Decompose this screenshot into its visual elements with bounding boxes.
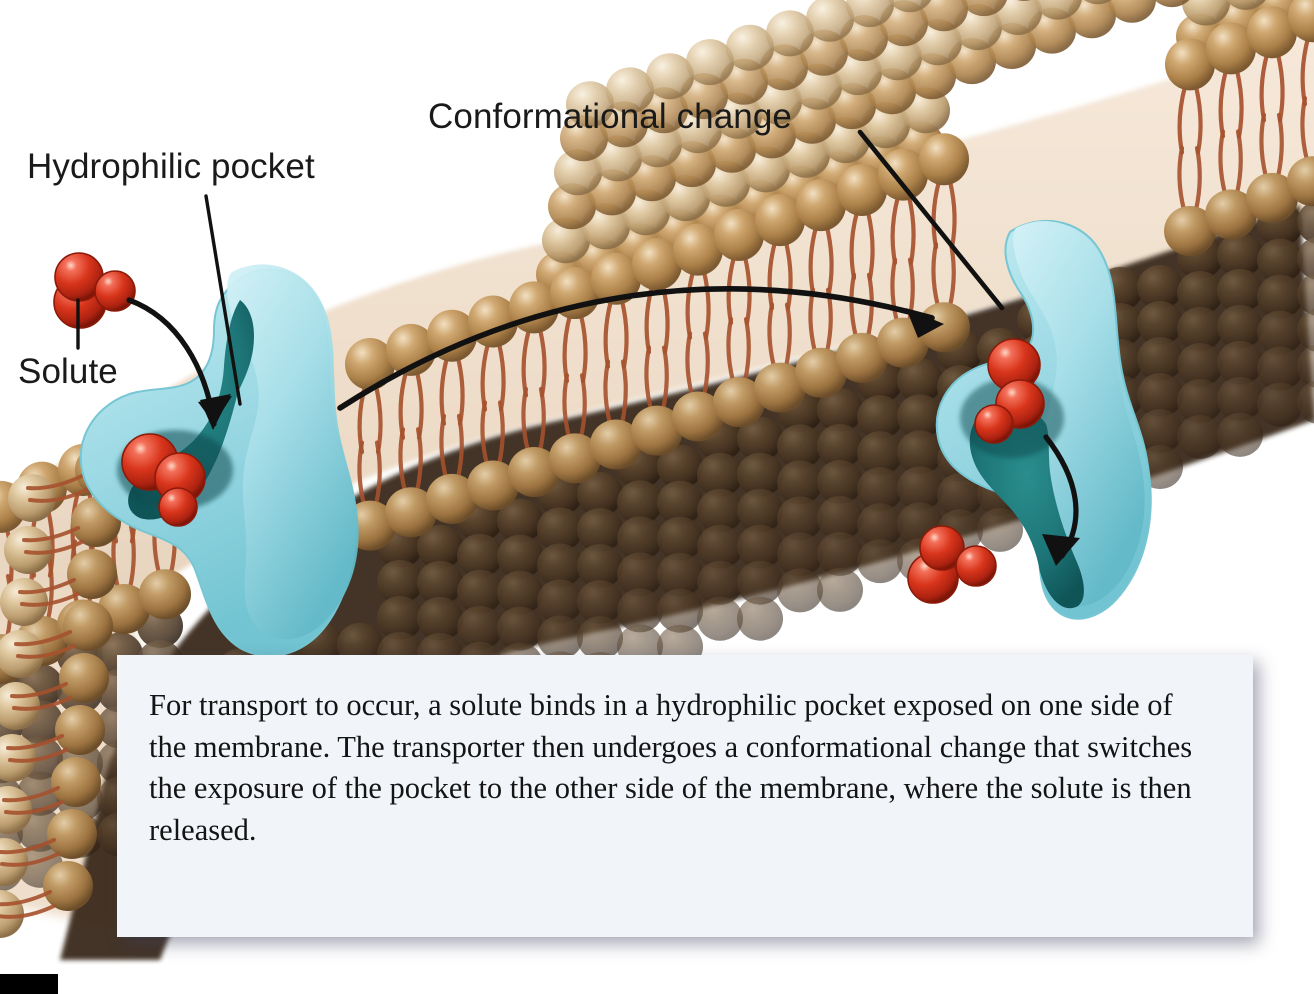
caption-box: For transport to occur, a solute binds i…: [117, 655, 1253, 937]
label-conformational-change: Conformational change: [428, 97, 792, 137]
figure-canvas: Conformational change Hydrophilic pocket…: [0, 0, 1314, 994]
lipid-head: [139, 569, 191, 619]
label-hydrophilic-pocket: Hydrophilic pocket: [27, 147, 315, 187]
lipid-head: [919, 133, 969, 185]
label-solute: Solute: [18, 352, 118, 392]
bottom-left-black-bar: [0, 974, 58, 994]
caption-text: For transport to occur, a solute binds i…: [149, 685, 1213, 851]
solute-free-top-left: [54, 253, 135, 328]
